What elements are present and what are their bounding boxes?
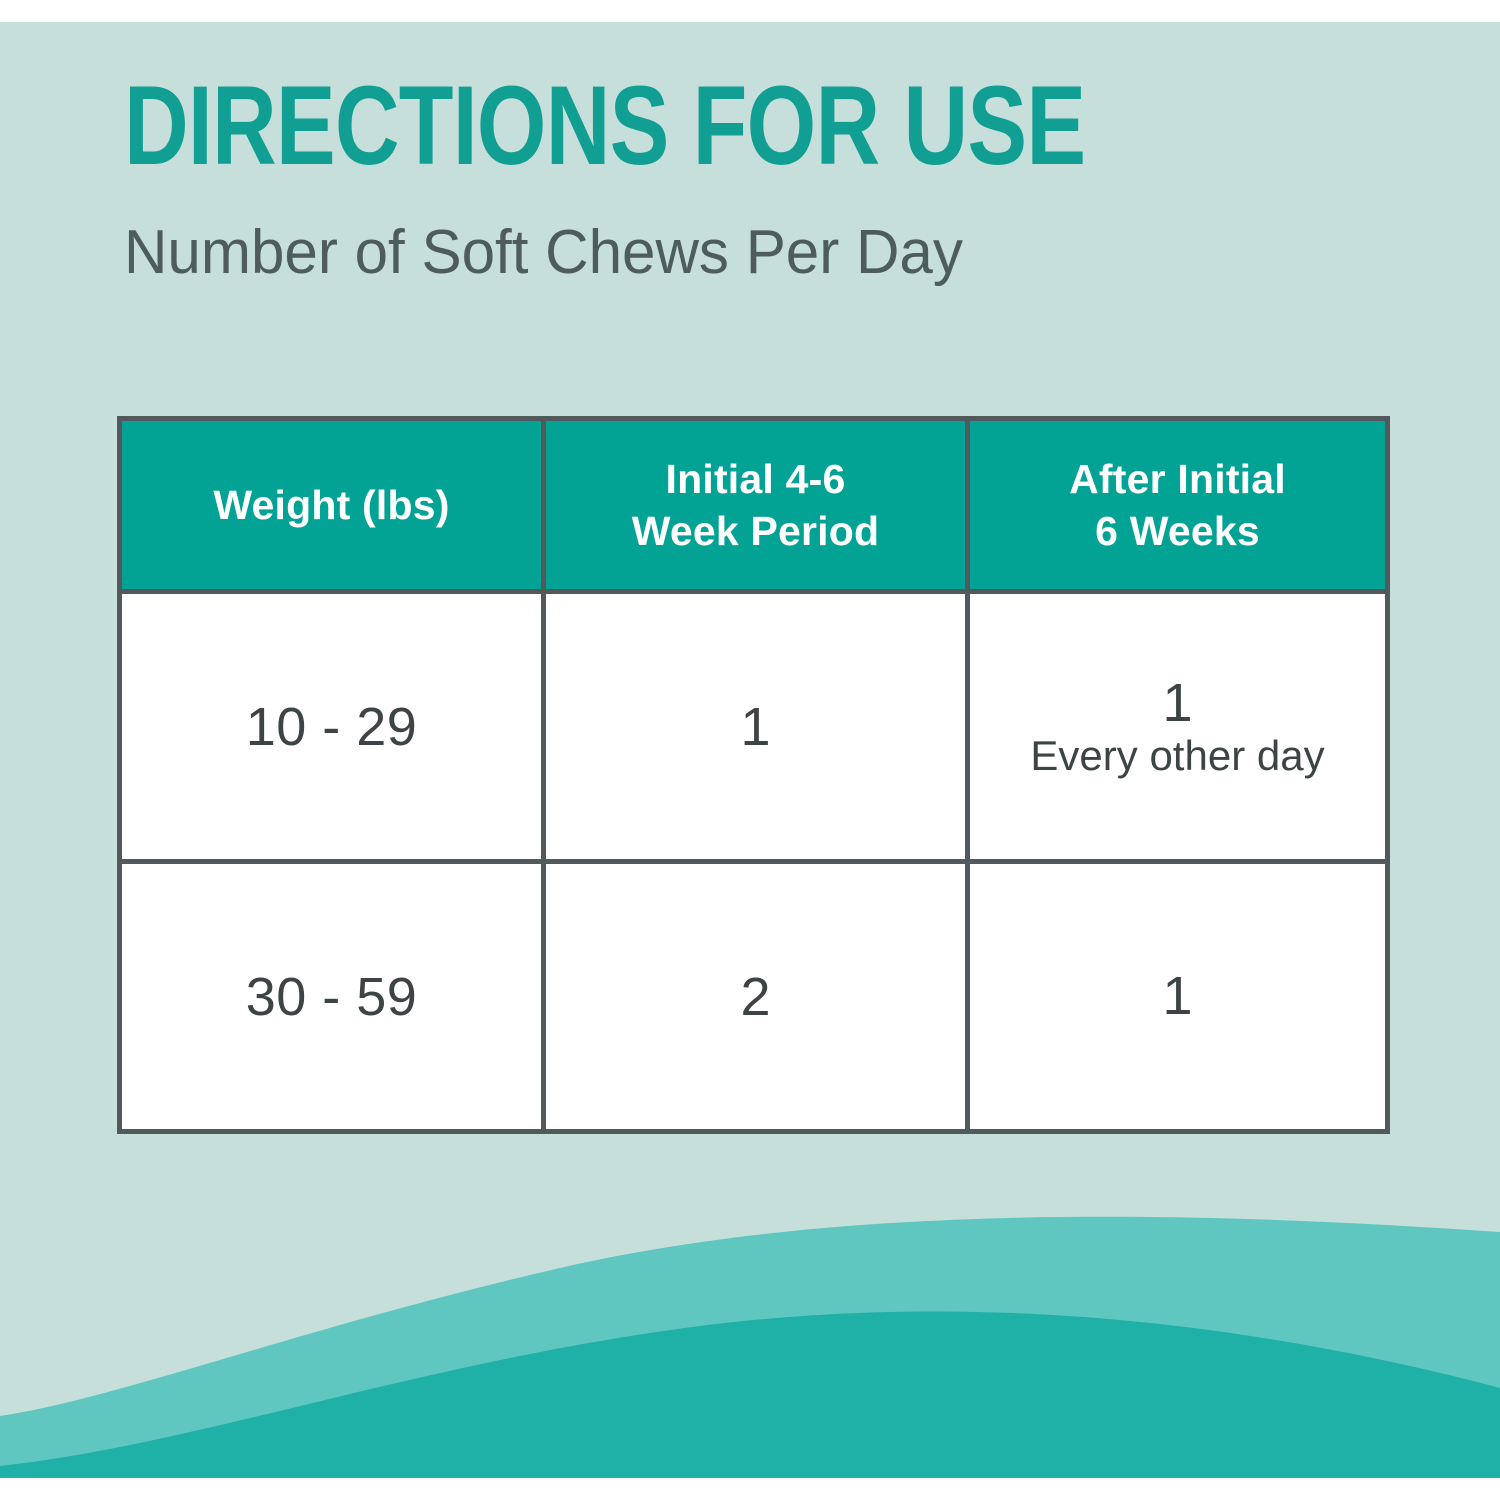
- weight-value-row2: 30 - 59: [246, 967, 418, 1027]
- column-header-initial-period: Initial 4-6 Week Period: [544, 419, 968, 592]
- cell-weight-row1: 10 - 29: [120, 592, 544, 862]
- initial-value-row2: 2: [740, 967, 770, 1027]
- column-header-weight-line1: Weight (lbs): [122, 479, 541, 531]
- infographic-canvas: DIRECTIONS FOR USE Number of Soft Chews …: [0, 0, 1500, 1500]
- wave-decoration-icon: [0, 1148, 1500, 1478]
- page-title: DIRECTIONS FOR USE: [124, 70, 1085, 182]
- column-header-after-initial-line1: After Initial: [970, 453, 1385, 505]
- after-value-stack-row2: 1: [970, 968, 1385, 1025]
- dosage-table: Weight (lbs) Initial 4-6 Week Period Aft…: [117, 416, 1390, 1134]
- cell-after-row1: 1 Every other day: [968, 592, 1388, 862]
- after-value-note-row1: Every other day: [1030, 734, 1324, 778]
- table-row: 10 - 29 1 1 Every other day: [120, 592, 1388, 862]
- column-header-weight: Weight (lbs): [120, 419, 544, 592]
- cell-weight-row2: 30 - 59: [120, 862, 544, 1132]
- tinted-panel: DIRECTIONS FOR USE Number of Soft Chews …: [0, 22, 1500, 1478]
- column-header-initial-period-line1: Initial 4-6: [546, 453, 965, 505]
- page-subtitle: Number of Soft Chews Per Day: [124, 222, 963, 284]
- after-value-stack-row1: 1 Every other day: [970, 675, 1385, 778]
- table-header-row: Weight (lbs) Initial 4-6 Week Period Aft…: [120, 419, 1388, 592]
- after-value-row1: 1: [1162, 675, 1192, 732]
- column-header-after-initial-line2: 6 Weeks: [970, 505, 1385, 557]
- column-header-initial-period-line2: Week Period: [546, 505, 965, 557]
- after-value-row2: 1: [1162, 968, 1192, 1025]
- table-row: 30 - 59 2 1: [120, 862, 1388, 1132]
- initial-value-row1: 1: [740, 697, 770, 757]
- table-header: Weight (lbs) Initial 4-6 Week Period Aft…: [120, 419, 1388, 592]
- table-body: 10 - 29 1 1 Every other day 30 - 59: [120, 592, 1388, 1132]
- cell-initial-row2: 2: [544, 862, 968, 1132]
- column-header-after-initial: After Initial 6 Weeks: [968, 419, 1388, 592]
- weight-value-row1: 10 - 29: [246, 697, 418, 757]
- cell-after-row2: 1: [968, 862, 1388, 1132]
- cell-initial-row1: 1: [544, 592, 968, 862]
